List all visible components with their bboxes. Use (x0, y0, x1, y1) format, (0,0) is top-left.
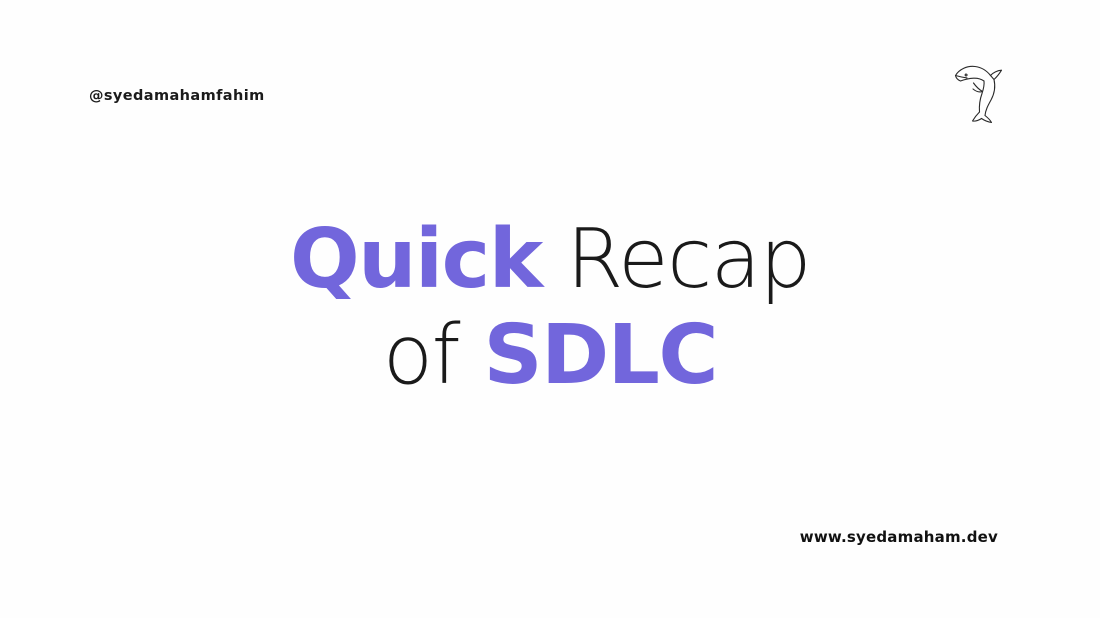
brand-logo (950, 55, 1010, 133)
title-word-recap: Recap (566, 212, 810, 307)
title-line-2: of SDLC (0, 308, 1100, 404)
title-line-1: Quick Recap (0, 212, 1100, 308)
social-handle: @syedamahamfahim (89, 86, 265, 106)
title-word-of: of (383, 308, 459, 403)
title-word-quick: Quick (290, 212, 542, 307)
footer-website-url: www.syedamaham.dev (800, 527, 998, 547)
dolphin-icon (950, 55, 1010, 133)
title-space-2 (459, 308, 484, 403)
title-space-1 (542, 212, 567, 307)
slide-canvas: @syedamahamfahim (0, 0, 1100, 618)
title-word-sdlc: SDLC (484, 308, 718, 403)
title-block: Quick Recap of SDLC (0, 212, 1100, 404)
